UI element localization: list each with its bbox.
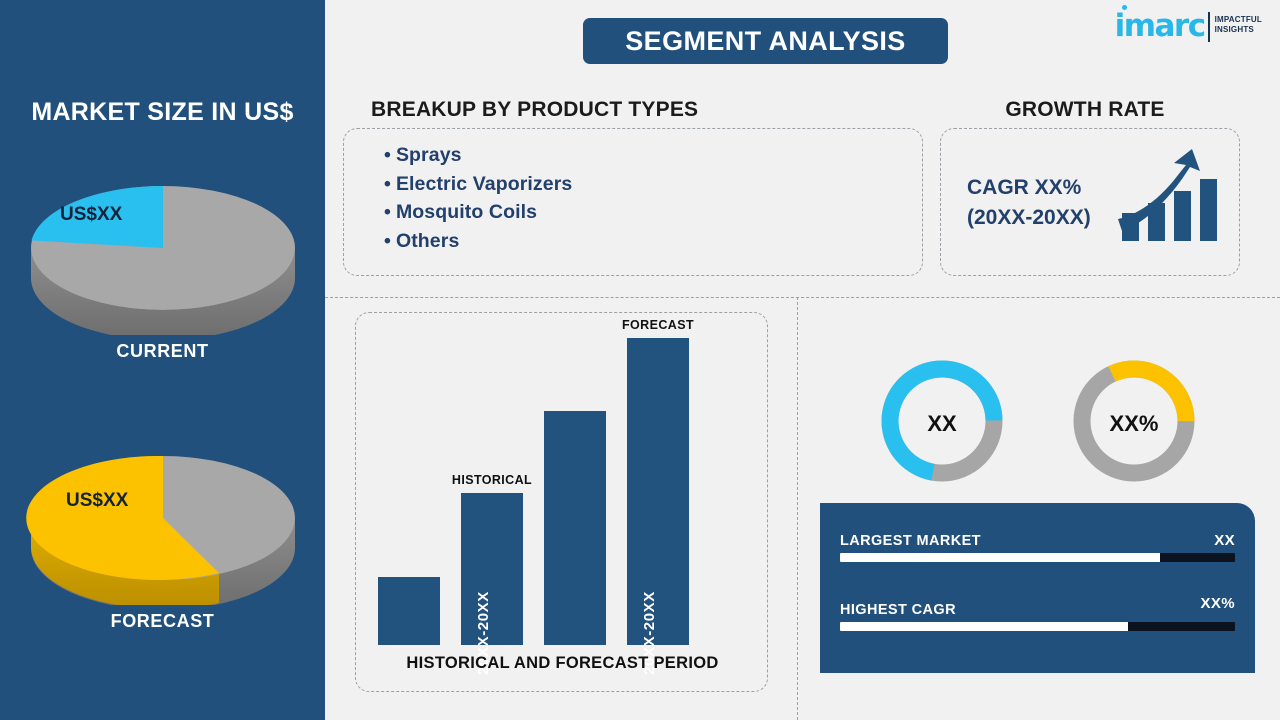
metric-highest-cagr: HIGHEST CAGR XX% — [840, 596, 1235, 631]
current-pie-chart: US$XX CURRENT — [0, 160, 325, 362]
bullet-icon: • — [384, 230, 391, 252]
table-row — [544, 411, 606, 645]
products-box: •Sprays •Electric Vaporizers •Mosquito C… — [343, 128, 923, 276]
growth-bars-arrow-icon — [1116, 143, 1224, 252]
table-row — [378, 577, 440, 645]
infographic-canvas: MARKET SIZE IN US$ — [0, 0, 1280, 720]
product-label: Sprays — [396, 144, 462, 166]
growth-box: CAGR XX% (20XX-20XX) — [940, 128, 1240, 276]
table-row: FORECAST 20XX-20XX — [627, 338, 689, 645]
logo-tagline: IMPACTFUL INSIGHTS — [1215, 15, 1262, 35]
logo-dot-icon — [1122, 5, 1127, 10]
logo-wordmark: imarc — [1115, 11, 1205, 42]
vertical-divider — [797, 297, 798, 720]
logo-tagline-line1: IMPACTFUL — [1215, 15, 1262, 25]
product-label: Mosquito Coils — [396, 201, 537, 223]
market-size-sidebar: MARKET SIZE IN US$ — [0, 0, 325, 720]
metric-largest-market: LARGEST MARKET XX — [840, 527, 1235, 562]
product-label: Electric Vaporizers — [396, 173, 572, 195]
logo-word-text: imarc — [1115, 8, 1205, 44]
progress-track — [840, 622, 1235, 631]
progress-track — [840, 553, 1235, 562]
current-pie-caption: CURRENT — [0, 341, 325, 362]
forecast-pie-graphic: US$XX — [0, 430, 325, 605]
metric-label: HIGHEST CAGR — [840, 602, 956, 618]
metric-row: HIGHEST CAGR XX% — [840, 596, 1235, 618]
banner-title: SEGMENT ANALYSIS — [625, 26, 905, 57]
metric-value: XX% — [1200, 595, 1235, 612]
list-item: •Sprays — [384, 141, 572, 170]
sidebar-title: MARKET SIZE IN US$ — [0, 98, 325, 127]
highest-cagr-donut-value: XX% — [1070, 355, 1198, 492]
bar-chart-bars: HISTORICAL 20XX-20XX FORECAST 20XX-20XX — [356, 333, 769, 645]
cagr-line-1: CAGR XX% — [967, 173, 1091, 203]
logo-tagline-line2: INSIGHTS — [1215, 25, 1262, 35]
segment-analysis-banner: SEGMENT ANALYSIS — [583, 18, 948, 64]
historical-label: HISTORICAL — [452, 473, 532, 487]
largest-market-donut-value: XX — [878, 355, 1006, 492]
list-item: •Others — [384, 227, 572, 256]
bar-chart-panel: HISTORICAL 20XX-20XX FORECAST 20XX-20XX … — [355, 312, 768, 692]
forecast-pie-chart: US$XX FORECAST — [0, 430, 325, 632]
current-pie-graphic: US$XX — [0, 160, 325, 335]
bar-chart-caption: HISTORICAL AND FORECAST PERIOD — [356, 654, 769, 673]
bullet-icon: • — [384, 144, 391, 166]
cagr-text: CAGR XX% (20XX-20XX) — [967, 173, 1091, 233]
key-metrics-card: LARGEST MARKET XX HIGHEST CAGR XX% — [820, 503, 1255, 673]
list-item: •Electric Vaporizers — [384, 170, 572, 199]
growth-heading: GROWTH RATE — [930, 98, 1240, 122]
metric-row: LARGEST MARKET XX — [840, 527, 1235, 549]
metric-value: XX — [1214, 532, 1235, 549]
table-row: HISTORICAL 20XX-20XX — [461, 493, 523, 645]
metric-label: LARGEST MARKET — [840, 533, 981, 549]
main-panel: SEGMENT ANALYSIS imarc IMPACTFUL INSIGHT… — [325, 0, 1280, 720]
highest-cagr-donut: XX% — [1070, 355, 1198, 492]
imarc-logo: imarc IMPACTFUL INSIGHTS — [1115, 11, 1262, 42]
list-item: •Mosquito Coils — [384, 198, 572, 227]
bullet-icon: • — [384, 201, 391, 223]
largest-market-donut: XX — [878, 355, 1006, 492]
logo-divider — [1208, 12, 1210, 42]
cagr-line-2: (20XX-20XX) — [967, 203, 1091, 233]
bullet-icon: • — [384, 173, 391, 195]
progress-fill — [840, 553, 1160, 562]
horizontal-divider — [325, 297, 1280, 298]
forecast-label: FORECAST — [622, 318, 694, 332]
product-label: Others — [396, 230, 459, 252]
forecast-pie-caption: FORECAST — [0, 611, 325, 632]
products-heading: BREAKUP BY PRODUCT TYPES — [371, 98, 698, 122]
products-list: •Sprays •Electric Vaporizers •Mosquito C… — [384, 141, 572, 255]
progress-fill — [840, 622, 1128, 631]
